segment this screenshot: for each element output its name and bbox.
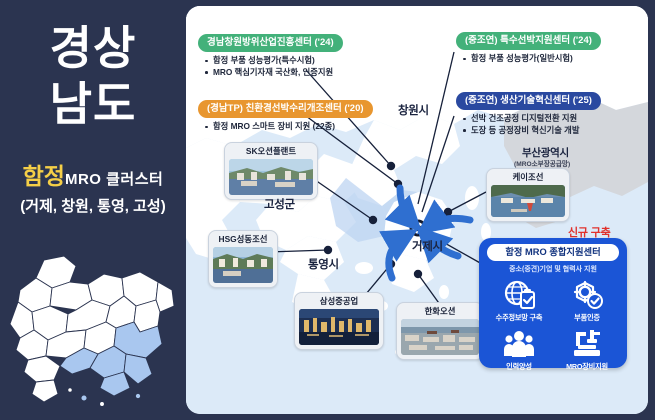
mro-hub-item-label: 인력양성 (485, 362, 553, 372)
callout-special-ship-support-center: (중조연) 특수선박지원센터 ('24) 함정 부품 성능평가(일반시험) (456, 30, 601, 65)
callout-title-pill: (중조연) 생산기술혁신센터 ('25) (456, 92, 601, 110)
province-title-line2: 남도 (0, 78, 186, 130)
mro-hub-item-label: 수주정보망 구축 (485, 313, 553, 323)
mro-hub-item-workforce-training: 인력양성 (485, 325, 553, 372)
keyword-hamjeong: 함정 (23, 163, 65, 189)
photo-card-label: 한화오션 (401, 306, 479, 317)
globe-clipboard-icon (502, 276, 536, 312)
shipyard-dock-photo (213, 247, 273, 283)
map-label-goseong: 고성군 (264, 196, 295, 212)
photo-card-k-shipbuilding: 케이조선 (486, 168, 570, 222)
province-title-line1: 경상 (0, 22, 186, 74)
callout-eco-ship-repair-center: (경남TP) 친환경선박수리개조센터 ('20) 함정 MRO 스마트 장비 지… (198, 98, 373, 133)
province-map-graphic (6, 248, 180, 412)
photo-card-samsung-heavy: 삼성중공업 (294, 292, 384, 350)
callout-bullet-list: 함정 부품 성능평가(특수시험) MRO 핵심기자재 국산화, 인증지원 (204, 55, 343, 78)
map-label-changwon: 창원시 (398, 102, 429, 118)
callout-bullet: 함정 부품 성능평가(특수시험) (204, 55, 343, 67)
callout-bullet: 선박 건조공정 디지털전환 지원 (462, 113, 601, 125)
photo-card-label: 삼성중공업 (299, 296, 379, 307)
map-label-geoje: 거제시 (412, 238, 443, 254)
mro-hub-subtitle: 중소(중견)기업 및 협력사 지원 (479, 264, 627, 274)
mro-hub-box: 함정 MRO 종합지원센터 중소(중견)기업 및 협력사 지원 수주정보망 구축 (479, 238, 627, 368)
photo-card-label: HSG성동조선 (213, 234, 273, 245)
photo-card-label: 케이조선 (491, 172, 565, 183)
callout-title-pill: (중조연) 특수선박지원센터 ('24) (456, 32, 601, 50)
callout-bullet: 함정 부품 성능평가(일반시험) (462, 53, 601, 65)
mro-hub-item-part-certification: 부품인증 (553, 276, 621, 323)
night-shipyard-photo (299, 309, 379, 345)
map-label-tongyeong: 통영시 (308, 256, 339, 272)
callout-title-pill: 경남창원방위산업진흥센터 ('24) (198, 34, 343, 52)
photo-card-hsg-sungdong: HSG성동조선 (208, 230, 278, 288)
cluster-headline: 함정MRO 클러스터 (0, 165, 186, 191)
callout-bullet-list: 선박 건조공정 디지털전환 지원 도장 등 공정장비 혁신기술 개발 (462, 113, 601, 136)
coastal-shipyard-photo (229, 159, 313, 195)
mro-hub-item-order-network: 수주정보망 구축 (485, 276, 553, 323)
callout-bullet: 도장 등 공정장비 혁신기술 개발 (462, 125, 601, 137)
callout-production-tech-innovation-center: (중조연) 생산기술혁신센터 ('25) 선박 건조공정 디지털전환 지원 도장… (456, 90, 601, 136)
callout-title-pill: (경남TP) 친환경선박수리개조센터 ('20) (198, 100, 373, 118)
left-title-panel: 경상 남도 함정MRO 클러스터 (거제, 창원, 통영, 고성) (0, 0, 186, 420)
machine-tool-icon (570, 325, 604, 361)
mro-hub-item-label: MRO장비지원 (553, 362, 621, 372)
photo-card-label: SK오션플랜트 (229, 146, 313, 157)
people-group-icon (502, 325, 536, 361)
mro-hub-item-label: 부품인증 (553, 313, 621, 323)
callout-bullet-list: 함정 MRO 스마트 장비 지원 (22종) (204, 121, 373, 133)
cluster-regions: (거제, 창원, 통영, 고성) (0, 195, 186, 216)
callout-changwon-defense-center: 경남창원방위산업진흥센터 ('24) 함정 부품 성능평가(특수시험) MRO … (198, 32, 343, 78)
callout-bullet: 함정 MRO 스마트 장비 지원 (22종) (204, 121, 373, 133)
callout-bullet-list: 함정 부품 성능평가(일반시험) (462, 53, 601, 65)
keyword-mro-cluster: MRO 클러스터 (65, 171, 163, 188)
photo-card-hanwha-ocean: 한화오션 (396, 302, 484, 360)
gear-check-icon (570, 276, 604, 312)
infographic-root: 경상 남도 함정MRO 클러스터 (거제, 창원, 통영, 고성) (0, 0, 655, 420)
aerial-shipyard-photo (401, 319, 479, 355)
photo-card-sk-oceanplant: SK오션플랜트 (224, 142, 318, 200)
mro-hub-item-equipment-support: MRO장비지원 (553, 325, 621, 372)
subtitle-block: 함정MRO 클러스터 (거제, 창원, 통영, 고성) (0, 165, 186, 216)
map-panel: 경남창원방위산업진흥센터 ('24) 함정 부품 성능평가(특수시험) MRO … (186, 6, 648, 414)
map-sublabel-busan-supply-chain: (MRO소부장공급망) (514, 158, 570, 168)
callout-bullet: MRO 핵심기자재 국산화, 인증지원 (204, 67, 343, 79)
harbor-shipyard-photo (491, 185, 565, 217)
mro-hub-title: 함정 MRO 종합지원센터 (487, 244, 619, 261)
